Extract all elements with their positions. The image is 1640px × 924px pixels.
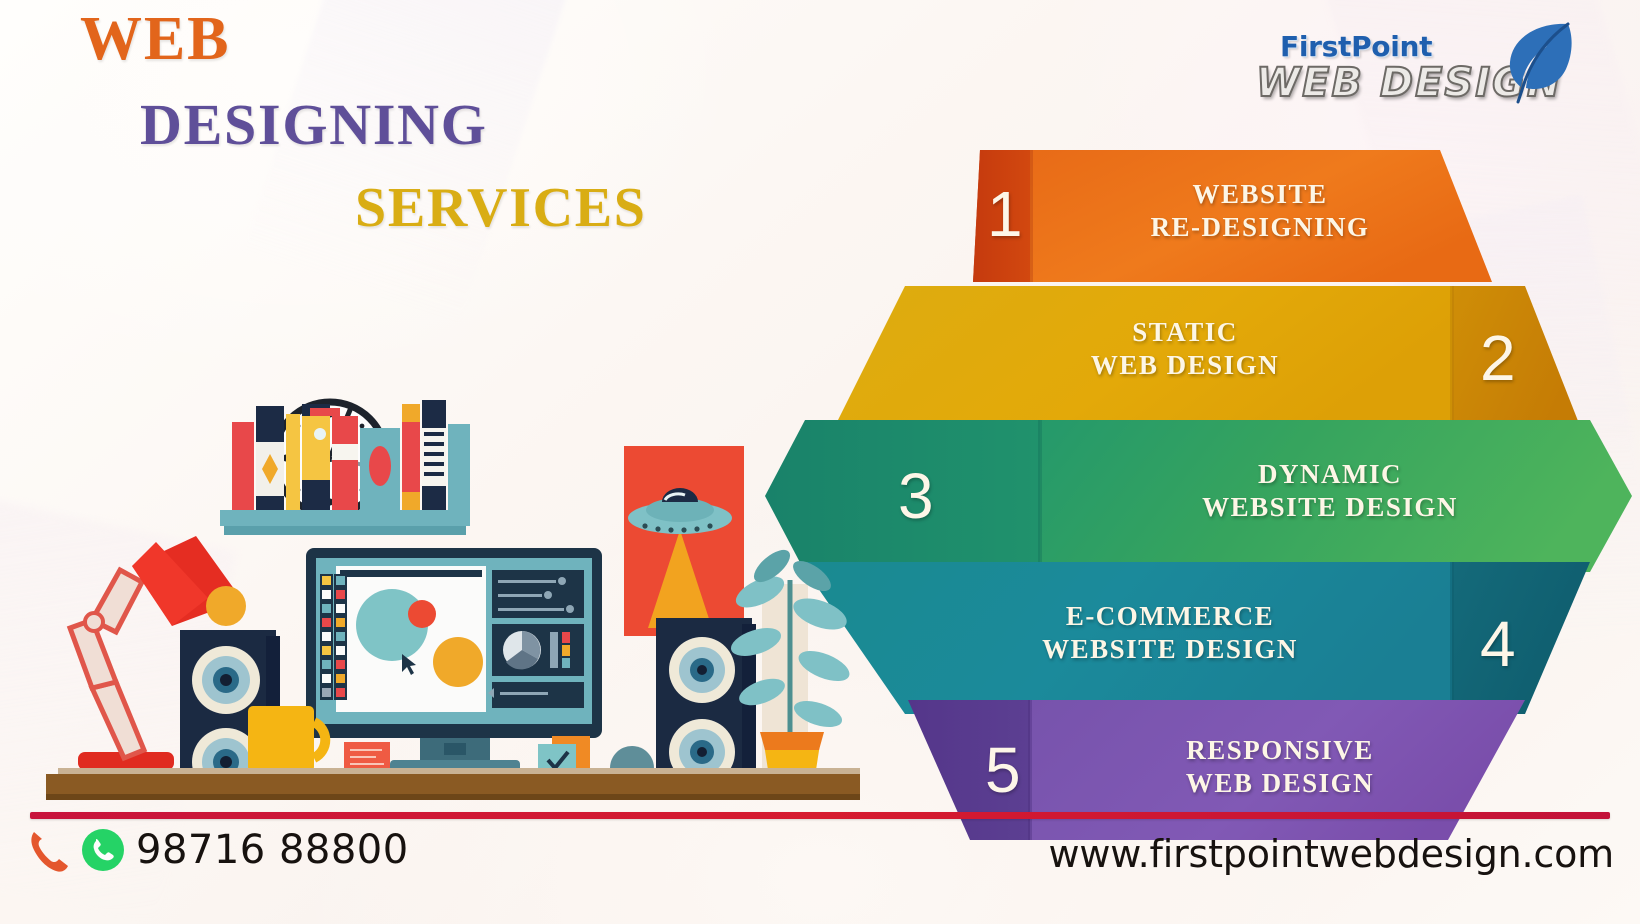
funnel-band-2[interactable]: STATIC WEB DESIGN 2: [780, 286, 1640, 436]
title-line-2: DESIGNING: [140, 96, 740, 154]
whatsapp-icon: [80, 827, 126, 873]
title-line-3: SERVICES: [355, 180, 740, 236]
contact-phone[interactable]: 98716 88800: [28, 826, 409, 874]
brand-logo[interactable]: FirstPoint WEB DESIGN: [1262, 8, 1602, 116]
band-label-4: E-COMMERCE WEBSITE DESIGN: [930, 600, 1410, 666]
right-panels: [488, 570, 584, 708]
web-designer-desk-illustration: [20, 370, 860, 800]
footer-divider: [30, 812, 1610, 819]
services-funnel: 1 WEBSITE RE-DESIGNING STATIC WEB DESIGN: [780, 150, 1640, 810]
band-label-2: STATIC WEB DESIGN: [950, 316, 1420, 382]
funnel-band-1[interactable]: 1 WEBSITE RE-DESIGNING: [780, 150, 1640, 300]
logo-brand-top: FirstPoint: [1280, 30, 1432, 63]
page-title: WEB DESIGNING SERVICES: [0, 8, 740, 236]
desk: [46, 768, 860, 800]
ufo-poster: [624, 446, 744, 636]
leaf-icon: [1490, 18, 1576, 104]
desk-object: [610, 746, 654, 768]
phone-icon: [28, 826, 70, 874]
band-label-5: RESPONSIVE WEB DESIGN: [1080, 734, 1480, 800]
coffee-mug: [248, 706, 325, 772]
funnel-band-4[interactable]: E-COMMERCE WEBSITE DESIGN 4: [780, 562, 1640, 722]
band-number-3: 3: [898, 464, 934, 528]
band-label-3: DYNAMIC WEBSITE DESIGN: [1080, 458, 1580, 524]
band-label-1: WEBSITE RE-DESIGNING: [1050, 178, 1470, 244]
band-number-2: 2: [1480, 326, 1516, 390]
phone-number: 98716 88800: [136, 827, 409, 873]
band-number-1: 1: [987, 182, 1023, 246]
poster-canvas: WEB DESIGNING SERVICES FirstPoint WEB DE…: [0, 0, 1640, 924]
funnel-band-3[interactable]: 3 DYNAMIC WEBSITE DESIGN: [780, 420, 1640, 580]
bookshelf: [220, 400, 470, 535]
website-url[interactable]: www.firstpointwebdesign.com: [1049, 832, 1614, 876]
title-line-1: WEB: [80, 8, 740, 70]
band-number-5: 5: [985, 738, 1021, 802]
band-number-4: 4: [1480, 612, 1516, 676]
